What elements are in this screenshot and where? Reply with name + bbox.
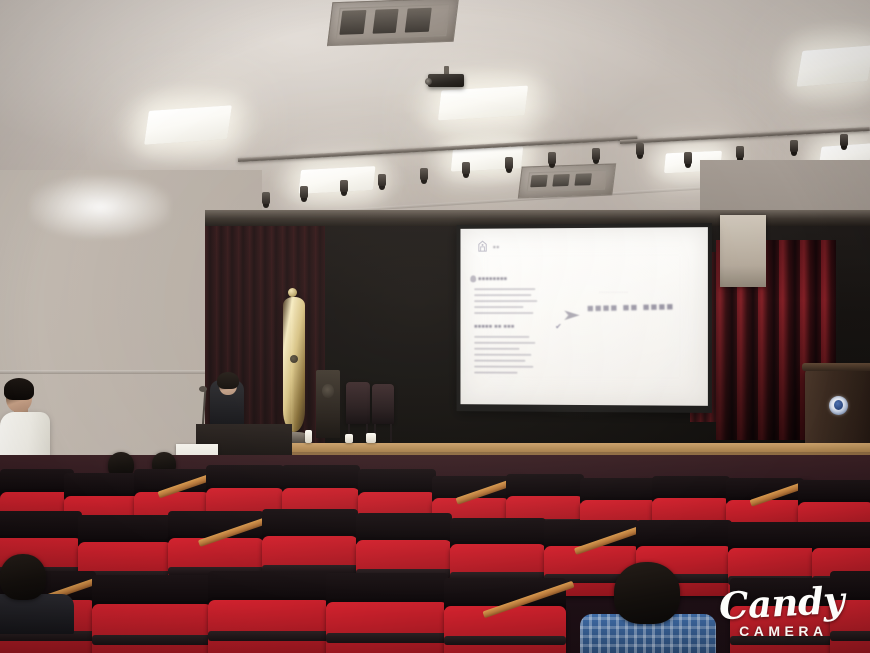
seat-armrest-24 — [208, 631, 330, 641]
ceiling-light-panel-4 — [796, 45, 870, 87]
track-spotlight-2 — [340, 180, 348, 193]
projector-lens-icon — [425, 78, 432, 85]
lens-flare-bloom — [30, 176, 170, 238]
ceiling-air-vent-0 — [327, 0, 459, 46]
slide-arrow-icon: ➤ — [562, 306, 581, 324]
lectern-emblem-icon — [829, 396, 848, 415]
track-spotlight-1 — [300, 186, 308, 199]
track-spotlight-12 — [790, 140, 798, 153]
auditorium-photo: ●● ■■■■■■■■ ■■■■■ ■■ ■■■ ✔ ➤ ···········… — [0, 0, 870, 653]
slide-check-icon: ✔ — [555, 322, 562, 331]
slide-body-line-3 — [474, 306, 523, 308]
ceremonial-flag — [283, 297, 305, 432]
slide-body-line-4 — [474, 312, 533, 314]
stage-small-podium — [316, 370, 340, 438]
flag-emblem-icon — [290, 355, 298, 363]
ceiling-air-vent-slot-1-1 — [552, 174, 569, 187]
seat-armrest-25 — [326, 633, 448, 643]
track-spotlight-6 — [505, 157, 513, 170]
stage-chair-1 — [372, 384, 394, 424]
track-spotlight-0 — [262, 192, 270, 205]
ceiling-projector-icon — [428, 74, 464, 87]
lectern-emblem-core-icon — [834, 400, 843, 410]
ceiling-air-vent-slot-0-0 — [339, 10, 366, 35]
slide-subheading: ■■■■■ ■■ ■■■ — [474, 324, 514, 330]
slide-bullet-icon — [470, 275, 476, 282]
audience-head-r2-0 — [0, 554, 46, 600]
lectern-top-surface — [802, 363, 870, 371]
slide-body-line-1 — [474, 294, 531, 296]
seat-cushion-24 — [208, 600, 330, 653]
microphone-head-icon — [199, 386, 207, 392]
right-wall-light-panel — [720, 215, 766, 287]
slide-body-line-2 — [474, 300, 537, 302]
track-spotlight-9 — [636, 143, 644, 156]
slide-handwriting-main: ■■■■ ■■ ■■■■ — [587, 301, 675, 315]
track-spotlight-11 — [736, 146, 744, 159]
stage-chair-leg-1-r — [390, 424, 392, 442]
ceiling-light-panel-2 — [298, 166, 375, 194]
stage-item-2 — [305, 430, 312, 443]
slide-surface: ●● ■■■■■■■■ ■■■■■ ■■ ■■■ ✔ ➤ ···········… — [460, 227, 707, 406]
ceiling-light-panel-0 — [144, 105, 232, 145]
track-spotlight-8 — [592, 148, 600, 161]
slide-body-line-10 — [474, 366, 533, 368]
projection-screen: ●● ■■■■■■■■ ■■■■■ ■■ ■■■ ✔ ➤ ···········… — [457, 223, 712, 413]
slide-body-line-9 — [474, 360, 525, 362]
ceiling-air-vent-1 — [518, 163, 616, 198]
track-spotlight-5 — [462, 162, 470, 175]
seat-armrest-26 — [444, 636, 566, 645]
audience-head-r2-1 — [614, 562, 680, 624]
flag-finial-icon — [288, 288, 297, 297]
track-spotlight-3 — [378, 174, 386, 187]
stage-item-4 — [366, 433, 376, 443]
stage-podium-emblem-icon — [322, 384, 334, 398]
presenter-hair — [217, 372, 239, 389]
slide-body-line-11 — [474, 372, 517, 374]
slide-body-line-7 — [474, 348, 519, 350]
track-spotlight-13 — [840, 134, 848, 147]
slide-body-line-6 — [474, 342, 535, 344]
seat-cushion-26 — [444, 606, 566, 653]
ceiling-air-vent-slot-0-1 — [372, 9, 399, 34]
slide-body-line-5 — [474, 336, 529, 338]
stage-chair-0 — [346, 382, 370, 424]
slide-body-line-0 — [474, 288, 535, 290]
ceiling-air-vent-slot-0-2 — [405, 8, 432, 33]
seat-cushion-23 — [92, 604, 212, 653]
seat-cushion-28 — [830, 600, 870, 653]
slide-logo-label: ●● — [493, 244, 500, 250]
audience-shoulders-r2-0 — [0, 594, 74, 634]
seat-armrest-28 — [830, 631, 870, 641]
ceiling-light-panel-1 — [438, 86, 528, 121]
seat-armrest-23 — [92, 635, 212, 645]
seat-cushion-25 — [326, 602, 448, 653]
slide-heading: ■■■■■■■■ — [478, 276, 507, 282]
slide-body-line-8 — [474, 354, 531, 356]
ceiling-air-vent-slot-1-0 — [530, 175, 547, 188]
stage-item-3 — [345, 434, 353, 443]
slide-logo-icon — [476, 241, 489, 256]
standing-attendee-hair — [4, 378, 34, 400]
track-spotlight-7 — [548, 152, 556, 165]
ceiling-air-vent-slot-1-2 — [574, 173, 591, 186]
track-spotlight-4 — [420, 168, 428, 181]
track-spotlight-10 — [684, 152, 692, 165]
slide-body-text-lines — [460, 227, 707, 229]
slide-handwriting-small: ············· — [599, 290, 629, 296]
